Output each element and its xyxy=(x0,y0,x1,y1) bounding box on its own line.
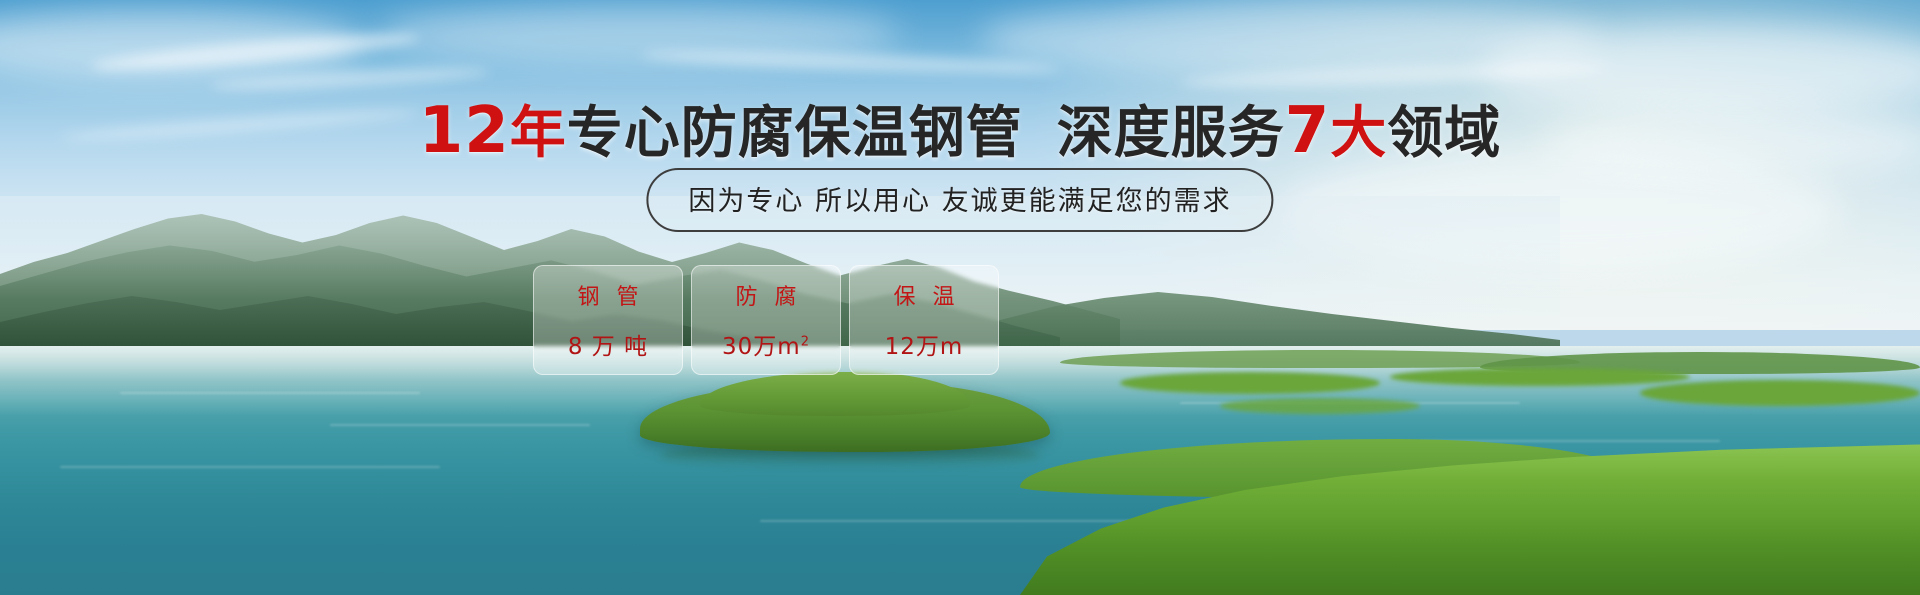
headline-tail: 领域 xyxy=(1387,101,1501,166)
stat-card-value-main: 30万m xyxy=(722,334,801,360)
page-title: 12年专心防腐保温钢管深度服务7大领域 xyxy=(0,88,1920,169)
headline-years-number: 12 xyxy=(419,94,510,168)
marsh-patch xyxy=(1220,398,1420,414)
stat-card-label: 钢 管 xyxy=(573,279,644,311)
tagline-pill: 因为专心 所以用心 友诚更能满足您的需求 xyxy=(646,168,1273,232)
stat-card-value-superscript: 2 xyxy=(801,334,810,349)
marsh-patch xyxy=(1390,368,1690,386)
stat-card-value-main: 8 万 吨 xyxy=(568,334,648,360)
headline-main: 专心防腐保温钢管 xyxy=(567,101,1023,166)
stat-card-value: 8 万 吨 xyxy=(568,327,648,361)
headline-years-unit: 年 xyxy=(510,101,567,166)
water-ripple xyxy=(330,424,590,426)
stat-card-value: 30万m2 xyxy=(722,327,810,361)
stat-card-value-main: 12万m xyxy=(885,334,964,360)
stat-card-insulation[interactable]: 保 温 12万m xyxy=(849,265,999,375)
headline-second: 深度服务 xyxy=(1057,101,1285,166)
stat-card-steel-pipe[interactable]: 钢 管 8 万 吨 xyxy=(533,265,683,375)
hero-banner: 12年专心防腐保温钢管深度服务7大领域 因为专心 所以用心 友诚更能满足您的需求… xyxy=(0,0,1920,595)
stat-card-anticorrosion[interactable]: 防 腐 30万m2 xyxy=(691,265,841,375)
headline-fields-unit: 大 xyxy=(1330,101,1387,166)
marsh-patch xyxy=(1120,372,1380,394)
stat-card-label: 防 腐 xyxy=(731,279,802,311)
stat-card-label: 保 温 xyxy=(889,279,960,311)
water-ripple xyxy=(60,466,440,468)
water-ripple xyxy=(120,392,420,394)
headline-fields-number: 7 xyxy=(1285,94,1331,168)
marsh-patch xyxy=(1640,380,1920,406)
stat-card-value: 12万m xyxy=(885,327,964,361)
stat-cards: 钢 管 8 万 吨 防 腐 30万m2 保 温 12万m xyxy=(533,265,999,375)
water-ripple xyxy=(760,520,1180,522)
